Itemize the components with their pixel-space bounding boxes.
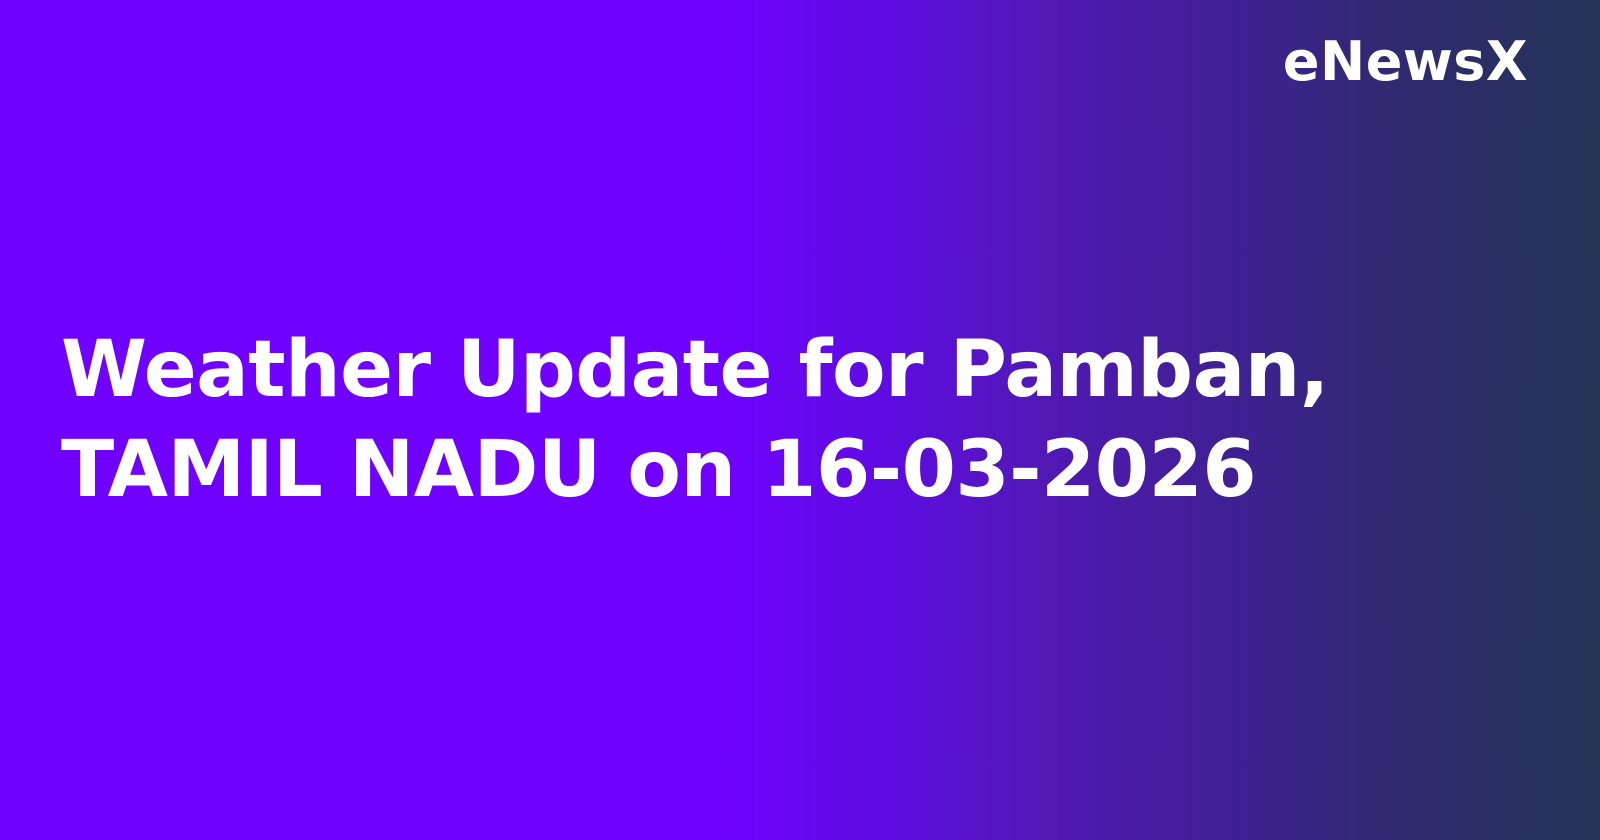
headline-container: Weather Update for Pamban, TAMIL NADU on… bbox=[61, 0, 1539, 840]
page-title: Weather Update for Pamban, TAMIL NADU on… bbox=[61, 320, 1441, 520]
weather-update-card: eNewsX Weather Update for Pamban, TAMIL … bbox=[0, 0, 1600, 840]
